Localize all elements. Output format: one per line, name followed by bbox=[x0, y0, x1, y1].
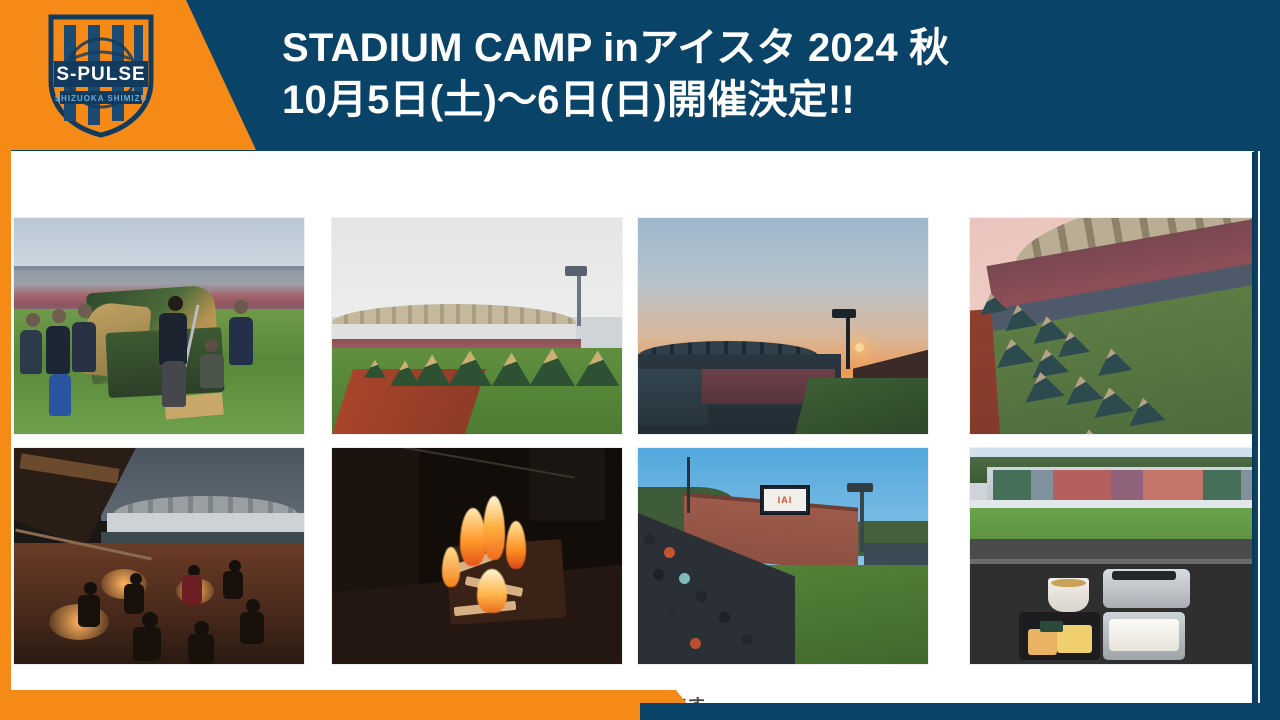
slide-canvas: S-PULSE SHIZUOKA SHIMIZU STADIUM CAMP in… bbox=[0, 0, 1280, 720]
panel-right-gap bbox=[1258, 151, 1260, 703]
title-line-2: 10月5日(土)〜6日(日)開催決定!! bbox=[282, 74, 1182, 126]
photo-stand-crowd-scoreboard[interactable]: IAI bbox=[638, 448, 928, 664]
background-orange-left-strip bbox=[0, 0, 11, 720]
svg-text:S-PULSE: S-PULSE bbox=[56, 64, 145, 85]
stadium-scoreboard: IAI bbox=[760, 485, 810, 515]
photo-breakfast-pitchview[interactable] bbox=[970, 448, 1254, 664]
slide-title: STADIUM CAMP inアイスタ 2024 秋 10月5日(土)〜6日(日… bbox=[282, 22, 1182, 126]
background-navy-bottom-bar bbox=[640, 703, 1280, 720]
photo-tent-row-trackside[interactable] bbox=[332, 218, 622, 434]
panel-right-rule bbox=[1252, 152, 1255, 703]
background-orange-bottom-bar bbox=[0, 690, 740, 720]
photo-tent-assembly[interactable] bbox=[14, 218, 304, 434]
photo-bonfire-closeup[interactable] bbox=[332, 448, 622, 664]
photo-concourse-gathering[interactable] bbox=[14, 448, 304, 664]
title-line-1: STADIUM CAMP inアイスタ 2024 秋 bbox=[282, 22, 1182, 74]
photo-grid: IAI bbox=[11, 151, 1254, 703]
content-panel: IAI bbox=[11, 151, 1254, 703]
svg-text:SHIZUOKA SHIMIZU: SHIZUOKA SHIMIZU bbox=[55, 94, 148, 103]
scoreboard-text: IAI bbox=[778, 495, 793, 505]
s-pulse-logo: S-PULSE SHIZUOKA SHIMIZU bbox=[46, 11, 156, 139]
photo-aerial-tents-dusk[interactable] bbox=[970, 218, 1254, 434]
photo-sunset-stadium[interactable] bbox=[638, 218, 928, 434]
